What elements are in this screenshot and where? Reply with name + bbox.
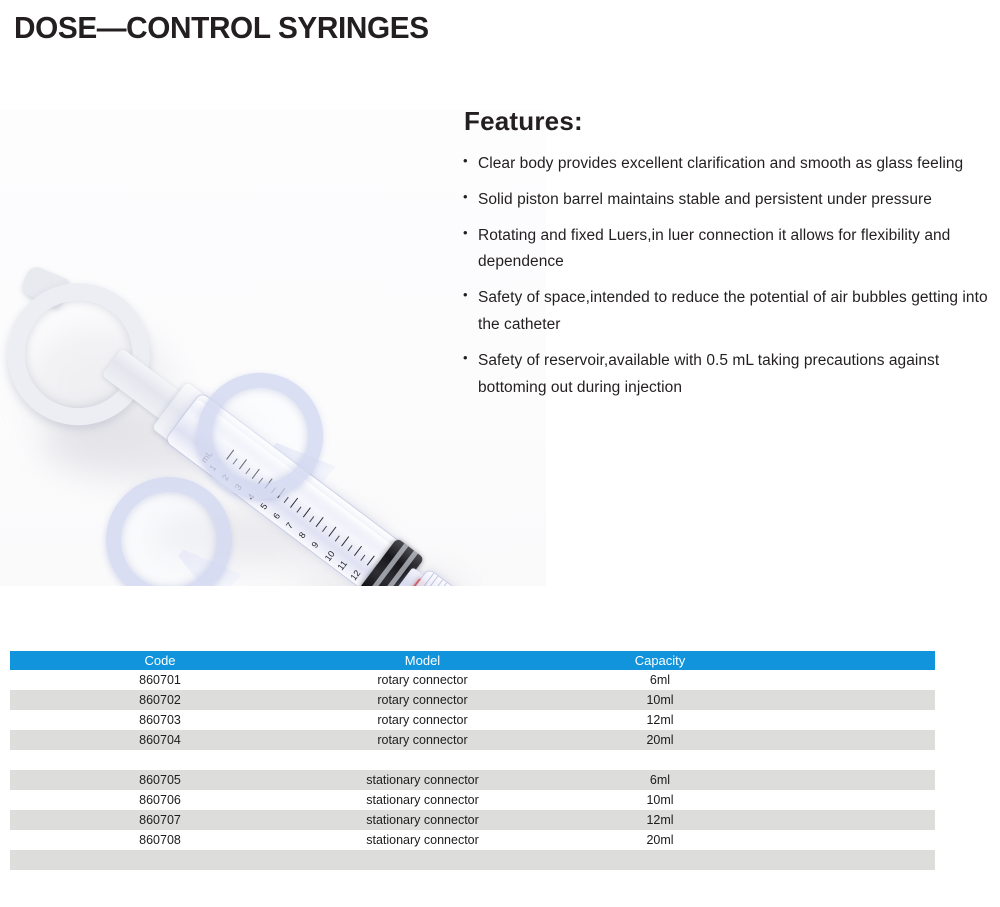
- table-row: 860706stationary connector10ml: [10, 790, 935, 810]
- cell-capacity: 20ml: [535, 833, 785, 847]
- graduation-label: 11: [335, 559, 349, 572]
- cell-model: rotary connector: [310, 693, 535, 707]
- cell-capacity: 10ml: [535, 693, 785, 707]
- graduation-tick-major: [354, 546, 362, 556]
- graduation-tick-major: [341, 536, 349, 546]
- feature-item: Rotating and fixed Luers,in luer connect…: [462, 223, 990, 277]
- graduation-tick-minor: [284, 497, 289, 503]
- cell-code: 860704: [10, 733, 310, 747]
- cell-model: stationary connector: [310, 813, 535, 827]
- table-row: 860707stationary connector12ml: [10, 810, 935, 830]
- column-header-model: Model: [310, 653, 535, 668]
- feature-item: Solid piston barrel maintains stable and…: [462, 187, 990, 214]
- features-section: Features: Clear body provides excellent …: [462, 106, 990, 411]
- syringe-illustration: mL 123456789101112: [0, 220, 514, 586]
- feature-item: Safety of reservoir,available with 0.5 m…: [462, 348, 990, 402]
- graduation-label: 10: [323, 549, 337, 563]
- graduation-label: 12: [348, 568, 362, 582]
- graduation-tick-minor: [360, 555, 365, 561]
- cell-code: 860706: [10, 793, 310, 807]
- specification-table: Code Model Capacity 860701rotary connect…: [10, 651, 935, 870]
- graduation-tick-major: [328, 527, 336, 537]
- features-list: Clear body provides excellent clarificat…: [462, 151, 990, 402]
- table-footer-band: [10, 850, 935, 870]
- cell-code: 860701: [10, 673, 310, 687]
- cell-model: rotary connector: [310, 713, 535, 727]
- graduation-label: 6: [271, 511, 282, 521]
- cell-code: 860707: [10, 813, 310, 827]
- graduation-label: 8: [297, 530, 308, 540]
- table-row: 860702rotary connector10ml: [10, 690, 935, 710]
- page-title: DOSE—CONTROL SYRINGES: [14, 10, 429, 46]
- table-body: 860701rotary connector6ml860702rotary co…: [10, 670, 935, 870]
- table-row: 860704rotary connector20ml: [10, 730, 935, 750]
- cell-model: rotary connector: [310, 733, 535, 747]
- column-header-capacity: Capacity: [535, 653, 785, 668]
- cell-code: 860703: [10, 713, 310, 727]
- table-row: 860705stationary connector6ml: [10, 770, 935, 790]
- graduation-label: 5: [258, 501, 269, 511]
- graduation-label: 9: [309, 540, 320, 550]
- table-row: 860708stationary connector20ml: [10, 830, 935, 850]
- graduation-tick-minor: [296, 506, 301, 512]
- column-header-code: Code: [10, 653, 310, 668]
- table-row: 860701rotary connector6ml: [10, 670, 935, 690]
- graduation-tick-major: [290, 498, 298, 508]
- feature-item: Safety of space,intended to reduce the p…: [462, 285, 990, 339]
- graduation-tick-major: [303, 507, 311, 517]
- features-heading: Features:: [464, 106, 990, 137]
- cell-model: stationary connector: [310, 833, 535, 847]
- cell-capacity: 6ml: [535, 673, 785, 687]
- cell-code: 860702: [10, 693, 310, 707]
- graduation-tick-minor: [322, 526, 327, 532]
- cell-model: stationary connector: [310, 773, 535, 787]
- cell-capacity: 10ml: [535, 793, 785, 807]
- cell-capacity: 20ml: [535, 733, 785, 747]
- graduation-tick-minor: [335, 535, 340, 541]
- cell-capacity: 12ml: [535, 713, 785, 727]
- table-row: 860703rotary connector12ml: [10, 710, 935, 730]
- cell-code: 860708: [10, 833, 310, 847]
- table-spacer-row: [10, 750, 935, 770]
- graduation-tick-minor: [309, 516, 314, 522]
- graduation-tick-minor: [348, 545, 353, 551]
- cell-model: rotary connector: [310, 673, 535, 687]
- cell-model: stationary connector: [310, 793, 535, 807]
- cell-code: 860705: [10, 773, 310, 787]
- cell-capacity: 6ml: [535, 773, 785, 787]
- cell-capacity: 12ml: [535, 813, 785, 827]
- feature-item: Clear body provides excellent clarificat…: [462, 151, 990, 178]
- table-header-row: Code Model Capacity: [10, 651, 935, 670]
- graduation-tick-major: [367, 555, 375, 565]
- graduation-tick-major: [316, 517, 324, 527]
- graduation-label: 7: [284, 521, 295, 531]
